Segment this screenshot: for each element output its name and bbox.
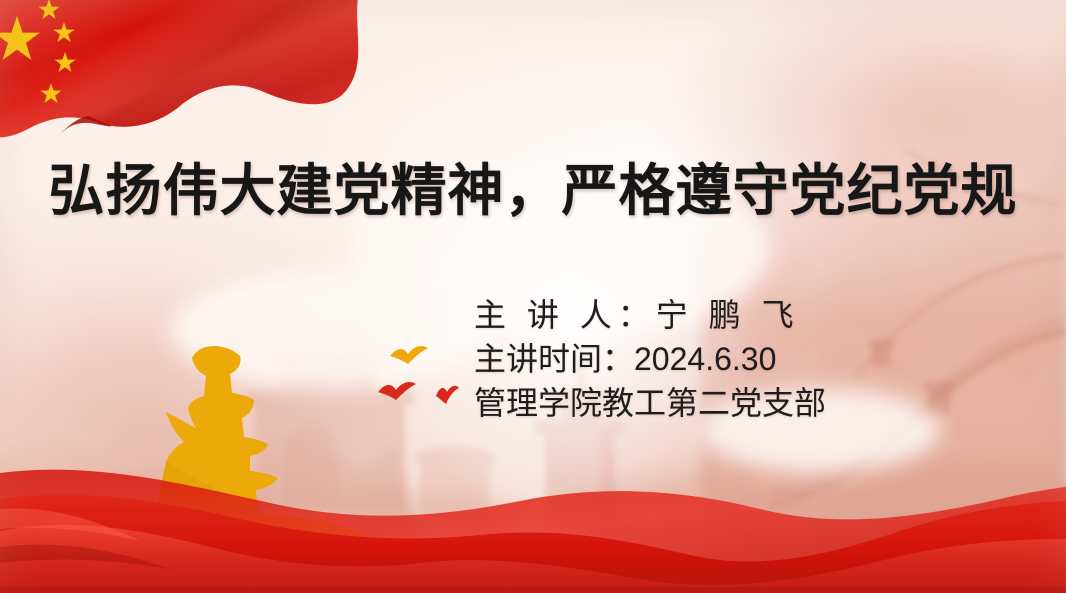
speaker-line: 主 讲 人：宁 鹏 飞 — [474, 293, 826, 337]
page-title: 弘扬伟大建党精神，严格遵守党纪党规 — [0, 146, 1066, 227]
slide-subtitle-block: 主 讲 人：宁 鹏 飞 主讲时间：2024.6.30 管理学院教工第二党支部 — [474, 293, 826, 425]
presentation-slide: 弘扬伟大建党精神，严格遵守党纪党规 主 讲 人：宁 鹏 飞 主讲时间：2024.… — [0, 0, 1066, 593]
flying-birds — [370, 330, 480, 425]
red-silk-ribbon-waves — [0, 443, 1066, 593]
organization-line: 管理学院教工第二党支部 — [474, 381, 826, 425]
date-line: 主讲时间：2024.6.30 — [474, 337, 826, 381]
